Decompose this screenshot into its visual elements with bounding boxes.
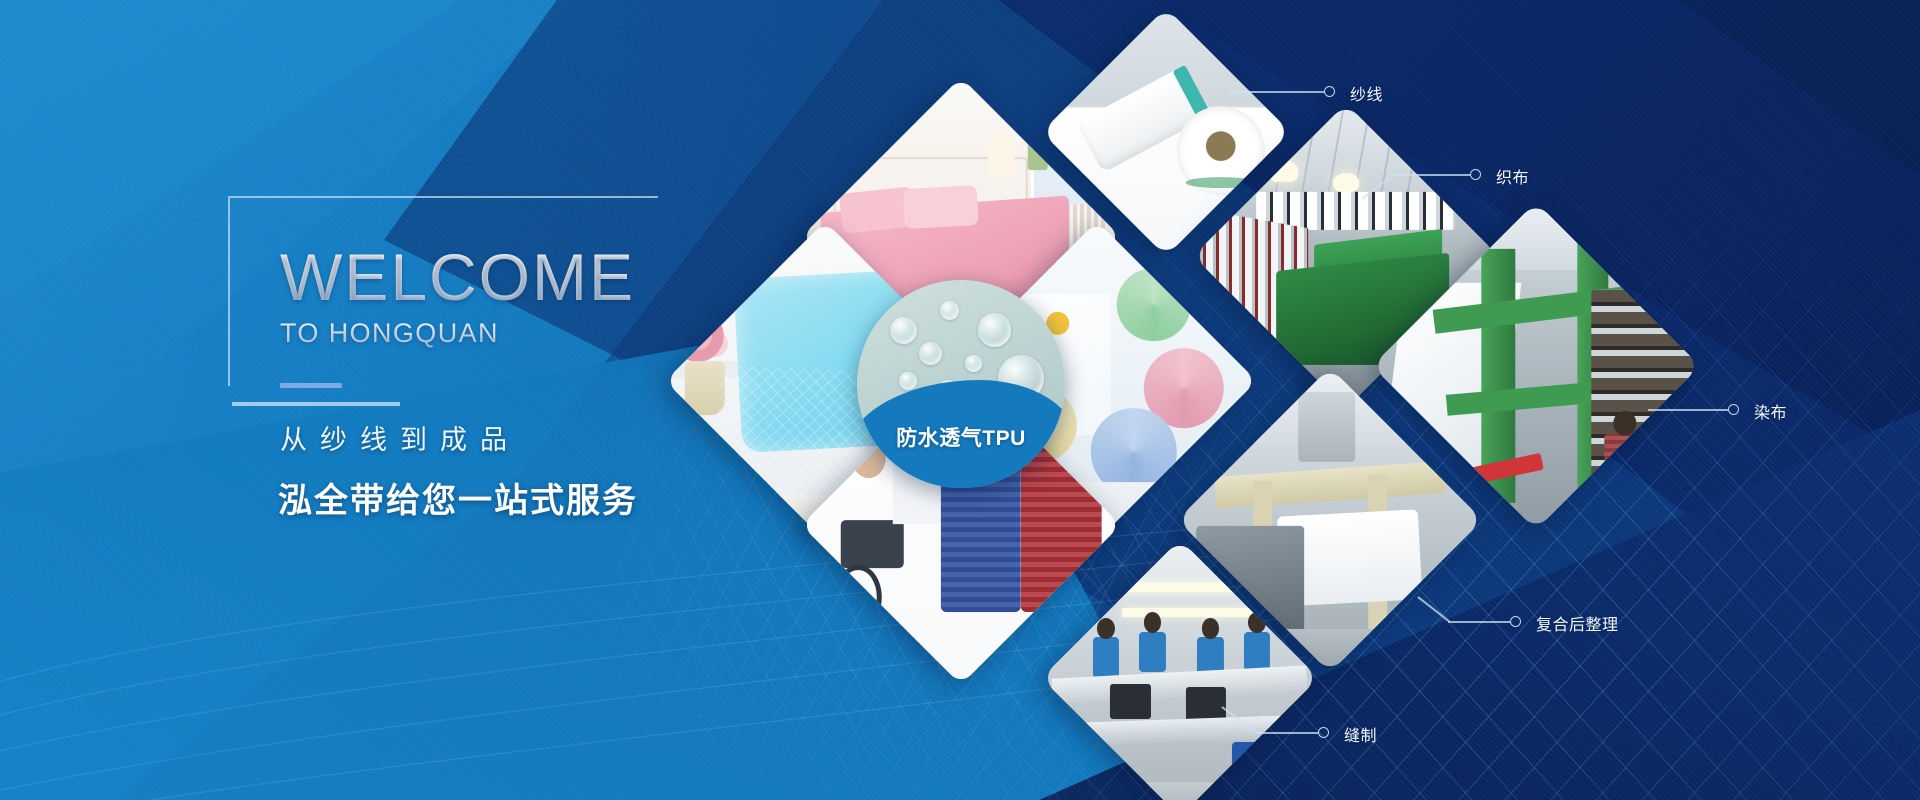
hero-banner: WELCOME TO HONGQUAN 从纱线到成品 泓全带给您一站式服务 [0, 0, 1920, 800]
tagline-chinese: 从纱线到成品 [280, 418, 768, 457]
callout-label-weaving: 织布 [1496, 164, 1529, 188]
callout-dot-icon [1318, 727, 1329, 738]
callout-dot-icon [1324, 86, 1335, 97]
callout-weaving: 织布 [1362, 160, 1592, 208]
hero-text-block: WELCOME TO HONGQUAN 从纱线到成品 泓全带给您一站式服务 [228, 196, 768, 522]
callout-label-dyeing: 染布 [1754, 399, 1787, 423]
callout-label-sewing: 缝制 [1344, 722, 1377, 746]
tpu-feature-badge[interactable]: 防水透气TPU [857, 280, 1065, 488]
subheadline-to-hongquan: TO HONGQUAN [280, 318, 768, 349]
callout-yarn: 纱线 [1228, 80, 1448, 104]
callout-sewing: 缝制 [1222, 706, 1472, 754]
headline-chinese: 泓全带给您一站式服务 [278, 473, 768, 522]
callout-label-lamination: 复合后整理 [1536, 611, 1619, 635]
water-droplet-icon [965, 355, 982, 372]
callout-lamination: 复合后整理 [1418, 596, 1678, 644]
headline-welcome: WELCOME [280, 244, 768, 310]
callout-dot-icon [1470, 169, 1481, 180]
water-droplet-icon [978, 313, 1011, 346]
callout-dot-icon [1510, 616, 1521, 627]
accent-rule-long [232, 402, 400, 406]
callout-dot-icon [1728, 404, 1739, 415]
water-droplet-icon [940, 301, 959, 320]
badge-label: 防水透气TPU [857, 422, 1065, 452]
product-diamond-cluster: 防水透气TPU [706, 128, 1216, 640]
callout-dyeing: 染布 [1648, 398, 1868, 422]
accent-rule-short [280, 383, 342, 388]
callout-label-yarn: 纱线 [1350, 81, 1383, 105]
